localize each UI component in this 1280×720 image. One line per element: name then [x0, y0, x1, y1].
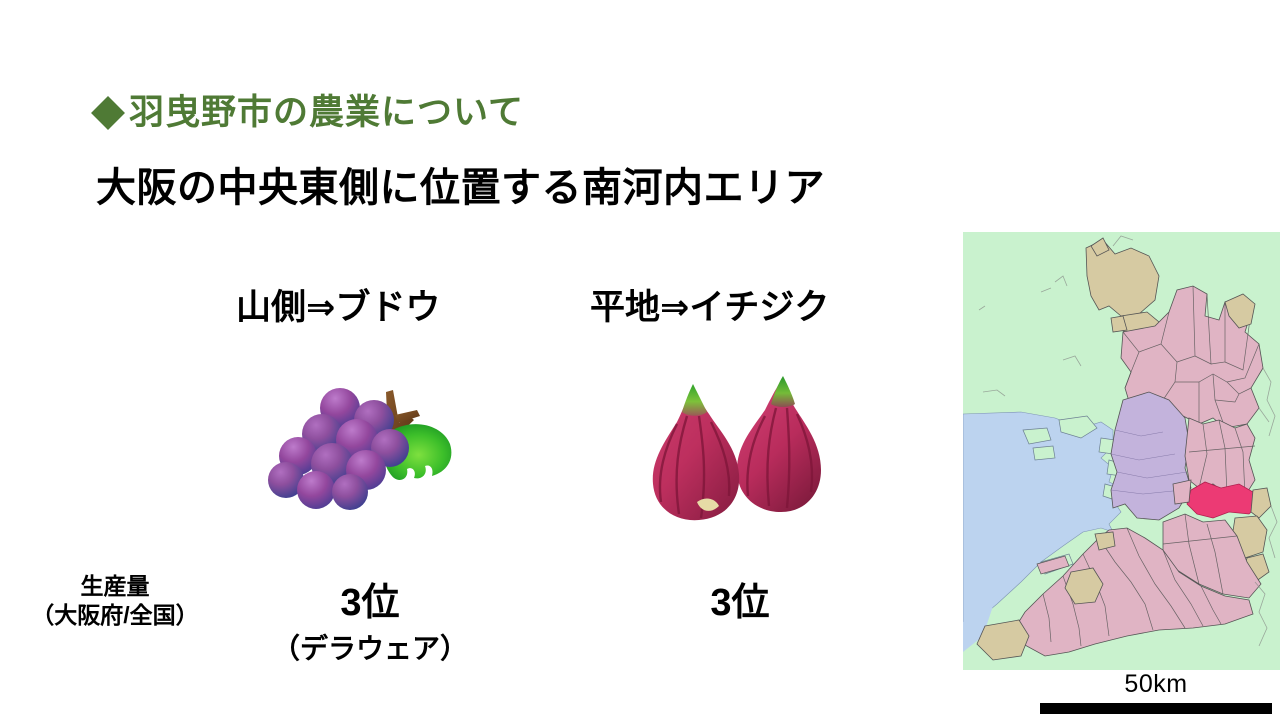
fig-rank-value: 3位 — [615, 580, 865, 626]
grape-rank-value: 3位 — [240, 580, 500, 626]
map-scale: 50km — [1040, 672, 1272, 716]
map-scale-bar — [1040, 703, 1272, 714]
production-volume-label: 生産量 （大阪府/全国） — [5, 572, 225, 631]
fig-rank-block: 3位 — [615, 580, 865, 626]
production-volume-label-line2: （大阪府/全国） — [5, 601, 225, 630]
production-volume-label-line1: 生産量 — [5, 572, 225, 601]
grape-rank-block: 3位 （デラウェア） — [240, 580, 500, 667]
section-heading-text: 羽曳野市の農業について — [129, 95, 524, 130]
slide-canvas: 羽曳野市の農業について 大阪の中央東側に位置する南河内エリア 山側⇒ブドウ 平地… — [0, 0, 1280, 720]
column-label-fig: 平地⇒イチジク — [590, 290, 829, 325]
column-label-grape: 山側⇒ブドウ — [236, 290, 440, 325]
figs-illustration — [645, 368, 825, 526]
diamond-bullet-icon — [91, 96, 125, 130]
osaka-prefecture-map — [963, 232, 1280, 670]
grapes-illustration — [262, 368, 462, 528]
slide-subtitle: 大阪の中央東側に位置する南河内エリア — [96, 168, 825, 208]
section-heading: 羽曳野市の農業について — [96, 95, 524, 130]
grape-variety-note: （デラウェア） — [240, 632, 500, 666]
map-scale-label: 50km — [1040, 672, 1272, 697]
